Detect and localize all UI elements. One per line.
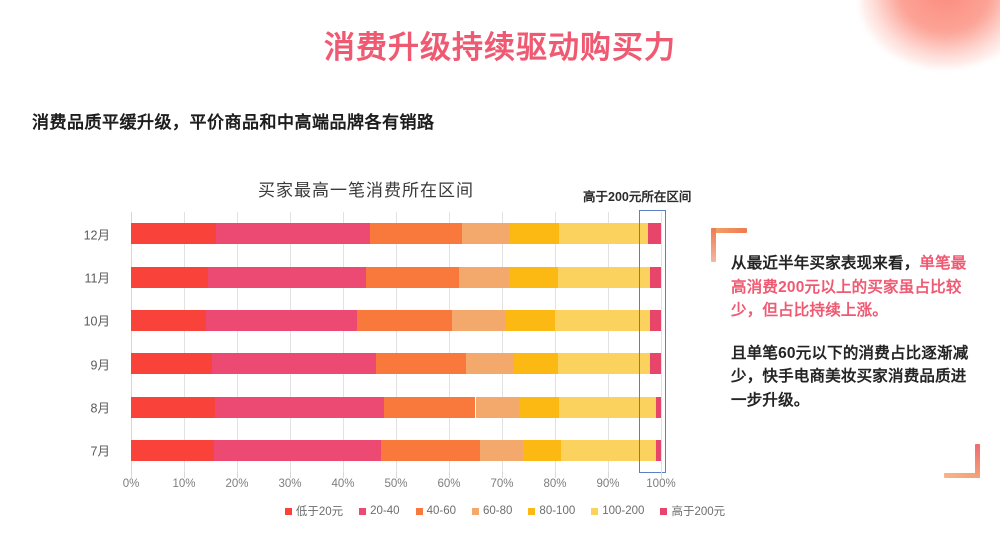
x-axis-tick	[184, 472, 185, 478]
bar-segment[interactable]	[212, 353, 376, 374]
y-axis-tick-label: 7月	[91, 441, 110, 460]
legend-label: 40-60	[427, 505, 456, 517]
x-axis-tick-label: 50%	[384, 478, 407, 490]
legend-label: 60-80	[483, 505, 512, 517]
x-axis-tick	[502, 472, 503, 478]
legend-label: 100-200	[602, 505, 644, 517]
bar-segment[interactable]	[514, 353, 559, 374]
chart-gridline	[449, 212, 450, 472]
x-axis-tick	[661, 472, 662, 478]
bar-segment[interactable]	[214, 440, 381, 461]
bar-segment[interactable]	[505, 310, 555, 331]
legend-swatch	[591, 508, 598, 515]
legend-label: 20-40	[370, 505, 399, 517]
bar-segment[interactable]	[131, 310, 206, 331]
highlight-box-label: 高于200元所在区间	[583, 186, 691, 205]
chart-bar[interactable]	[131, 223, 661, 244]
y-axis-tick-label: 11月	[85, 268, 110, 287]
legend-swatch	[528, 508, 535, 515]
legend-item[interactable]: 40-60	[416, 505, 456, 517]
chart-bar[interactable]	[131, 310, 661, 331]
x-axis-tick	[237, 472, 238, 478]
x-axis-tick	[555, 472, 556, 478]
legend-item[interactable]: 20-40	[359, 505, 399, 517]
y-axis-tick-label: 8月	[91, 398, 110, 417]
chart-gridline	[555, 212, 556, 472]
x-axis-tick-label: 60%	[437, 478, 460, 490]
x-axis-tick	[290, 472, 291, 478]
chart-gridline	[608, 212, 609, 472]
bar-segment[interactable]	[559, 223, 648, 244]
bar-segment[interactable]	[384, 397, 475, 418]
bar-segment[interactable]	[357, 310, 451, 331]
x-axis-tick-label: 30%	[278, 478, 301, 490]
bar-segment[interactable]	[558, 267, 650, 288]
legend-item[interactable]: 60-80	[472, 505, 512, 517]
page-subtitle: 消费品质平缓升级，平价商品和中高端品牌各有销路	[32, 108, 435, 133]
x-axis-tick-label: 90%	[596, 478, 619, 490]
x-axis-tick-label: 70%	[490, 478, 513, 490]
legend-item[interactable]: 100-200	[591, 505, 644, 517]
legend-label: 低于20元	[296, 503, 343, 519]
bar-segment[interactable]	[452, 310, 505, 331]
chart-gridline	[502, 212, 503, 472]
chart-bar[interactable]	[131, 267, 661, 288]
bar-segment[interactable]	[462, 223, 510, 244]
x-axis-tick-label: 40%	[331, 478, 354, 490]
highlight-box	[639, 210, 666, 473]
chart-gridline	[184, 212, 185, 472]
legend-swatch	[660, 508, 667, 515]
x-axis-tick	[343, 472, 344, 478]
annotation-paragraph-2: 且单笔60元以下的消费占比逐渐减少，快手电商美妆买家消费品质进一步升级。	[731, 342, 971, 413]
bar-segment[interactable]	[466, 353, 514, 374]
legend-swatch	[472, 508, 479, 515]
chart-gridline	[237, 212, 238, 472]
bar-segment[interactable]	[523, 440, 561, 461]
y-axis-tick-label: 10月	[84, 311, 110, 330]
chart-gridline	[290, 212, 291, 472]
bar-segment[interactable]	[206, 310, 357, 331]
x-axis-tick-label: 10%	[172, 478, 195, 490]
bar-segment[interactable]	[381, 440, 480, 461]
x-axis-tick	[608, 472, 609, 478]
legend-swatch	[359, 508, 366, 515]
chart-gridline	[396, 212, 397, 472]
y-axis-tick-label: 12月	[84, 224, 110, 243]
chart-bar[interactable]	[131, 397, 661, 418]
x-axis-labels: 0%10%20%30%40%50%60%70%80%90%100%	[0, 478, 1000, 494]
y-axis-labels: 12月11月10月9月8月7月	[0, 212, 122, 472]
legend-item[interactable]: 80-100	[528, 505, 575, 517]
legend-swatch	[285, 508, 292, 515]
bar-segment[interactable]	[509, 267, 558, 288]
bar-segment[interactable]	[216, 223, 370, 244]
chart-plot-area	[131, 212, 661, 472]
annotation-text: 从最近半年买家表现来看，单笔最高消费200元以上的买家虽占比较少，但占比持续上涨…	[731, 252, 971, 412]
chart-legend: 低于20元20-4040-6060-8080-100100-200高于200元	[0, 503, 1000, 519]
annotation-paragraph-1: 从最近半年买家表现来看，单笔最高消费200元以上的买家虽占比较少，但占比持续上涨…	[731, 252, 971, 323]
bar-segment[interactable]	[131, 397, 215, 418]
bar-segment[interactable]	[131, 223, 216, 244]
bar-segment[interactable]	[215, 397, 385, 418]
x-axis-tick-label: 100%	[646, 478, 675, 490]
bar-segment[interactable]	[480, 440, 523, 461]
bracket-bottom-right-icon	[944, 444, 980, 478]
x-axis-tick-label: 0%	[123, 478, 140, 490]
chart-bar[interactable]	[131, 440, 661, 461]
chart-bar[interactable]	[131, 353, 661, 374]
bar-segment[interactable]	[519, 397, 559, 418]
legend-swatch	[416, 508, 423, 515]
slide-canvas: 消费升级持续驱动购买力 消费品质平缓升级，平价商品和中高端品牌各有销路 买家最高…	[0, 0, 1000, 556]
bar-segment[interactable]	[131, 267, 208, 288]
legend-item[interactable]: 高于200元	[660, 503, 725, 519]
bar-segment[interactable]	[558, 353, 650, 374]
legend-item[interactable]: 低于20元	[285, 503, 343, 519]
x-axis-tick	[131, 472, 132, 478]
bar-segment[interactable]	[376, 353, 466, 374]
bar-segment[interactable]	[510, 223, 559, 244]
bar-segment[interactable]	[366, 267, 458, 288]
bar-segment[interactable]	[476, 397, 519, 418]
chart-gridline	[343, 212, 344, 472]
bar-segment[interactable]	[459, 267, 509, 288]
legend-label: 80-100	[539, 505, 575, 517]
y-axis-tick-label: 9月	[91, 354, 110, 373]
x-axis-tick-label: 80%	[543, 478, 566, 490]
legend-label: 高于200元	[671, 503, 725, 519]
annotation-p1-plain: 从最近半年买家表现来看，	[731, 255, 919, 272]
x-axis-tick-label: 20%	[225, 478, 248, 490]
x-axis-tick	[449, 472, 450, 478]
chart-title: 买家最高一笔消费所在区间	[258, 176, 474, 201]
bar-segment[interactable]	[131, 353, 212, 374]
bar-segment[interactable]	[370, 223, 462, 244]
page-title: 消费升级持续驱动购买力	[0, 22, 1000, 67]
x-axis-tick	[396, 472, 397, 478]
bar-segment[interactable]	[555, 310, 650, 331]
bar-segment[interactable]	[131, 440, 214, 461]
bar-segment[interactable]	[208, 267, 366, 288]
